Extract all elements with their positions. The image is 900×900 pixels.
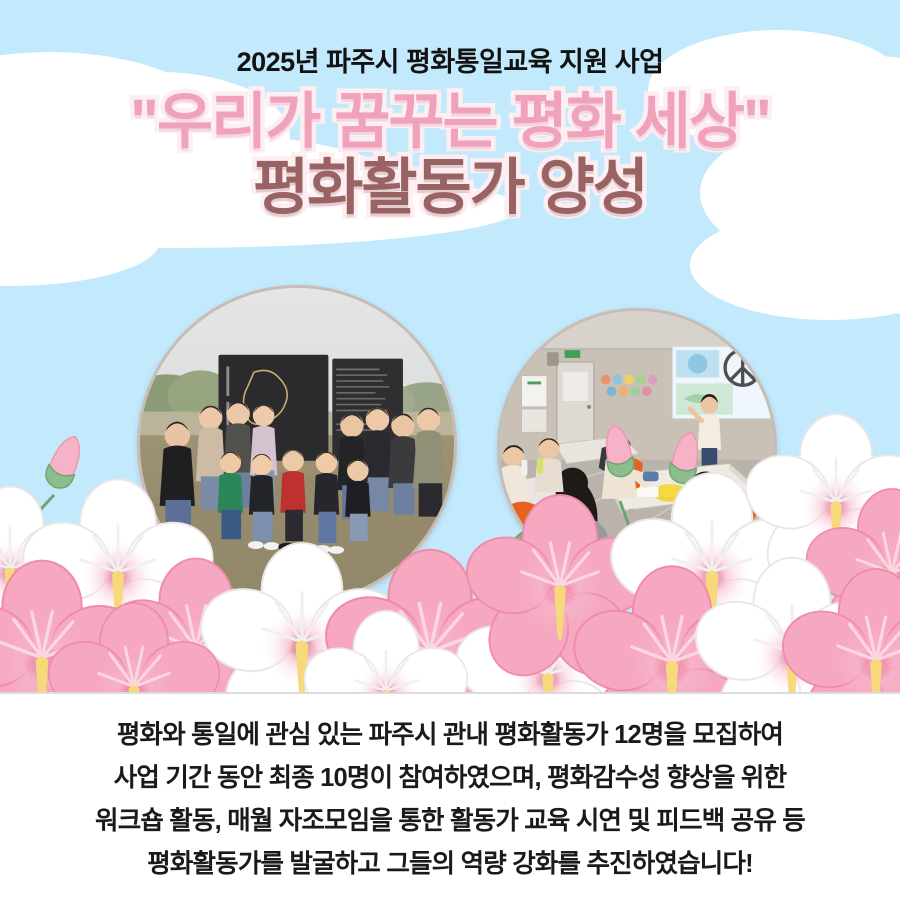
promo-card: 2025년 파주시 평화통일교육 지원 사업 "우리가 꿈꾸는 평화 세상" 평…: [0, 0, 900, 900]
workshop-photo-classroom-image: [500, 311, 774, 585]
workshop-photo-classroom[interactable]: [497, 308, 777, 588]
caption-line: 평화와 통일에 관심 있는 파주시 관내 평화활동가 12명을 모집하여: [117, 714, 783, 757]
group-photo-outdoor[interactable]: [137, 285, 457, 605]
caption-line: 평화활동가를 발굴하고 그들의 역량 강화를 추진하였습니다!: [147, 843, 753, 886]
page-title: "우리가 꿈꾸는 평화 세상": [0, 90, 900, 152]
header: 2025년 파주시 평화통일교육 지원 사업 "우리가 꿈꾸는 평화 세상" 평…: [0, 0, 900, 218]
caption-panel: 평화와 통일에 관심 있는 파주시 관내 평화활동가 12명을 모집하여 사업 …: [0, 692, 900, 900]
page-subtitle: 평화활동가 양성: [0, 156, 900, 218]
group-photo-outdoor-image: [140, 288, 454, 602]
caption-line: 워크숍 활동, 매월 자조모임을 통한 활동가 교육 시연 및 피드백 공유 등: [95, 800, 805, 843]
caption-line: 사업 기간 동안 최종 10명이 참여하였으며, 평화감수성 향상을 위한: [114, 757, 787, 800]
program-eyebrow: 2025년 파주시 평화통일교육 지원 사업: [0, 48, 900, 78]
